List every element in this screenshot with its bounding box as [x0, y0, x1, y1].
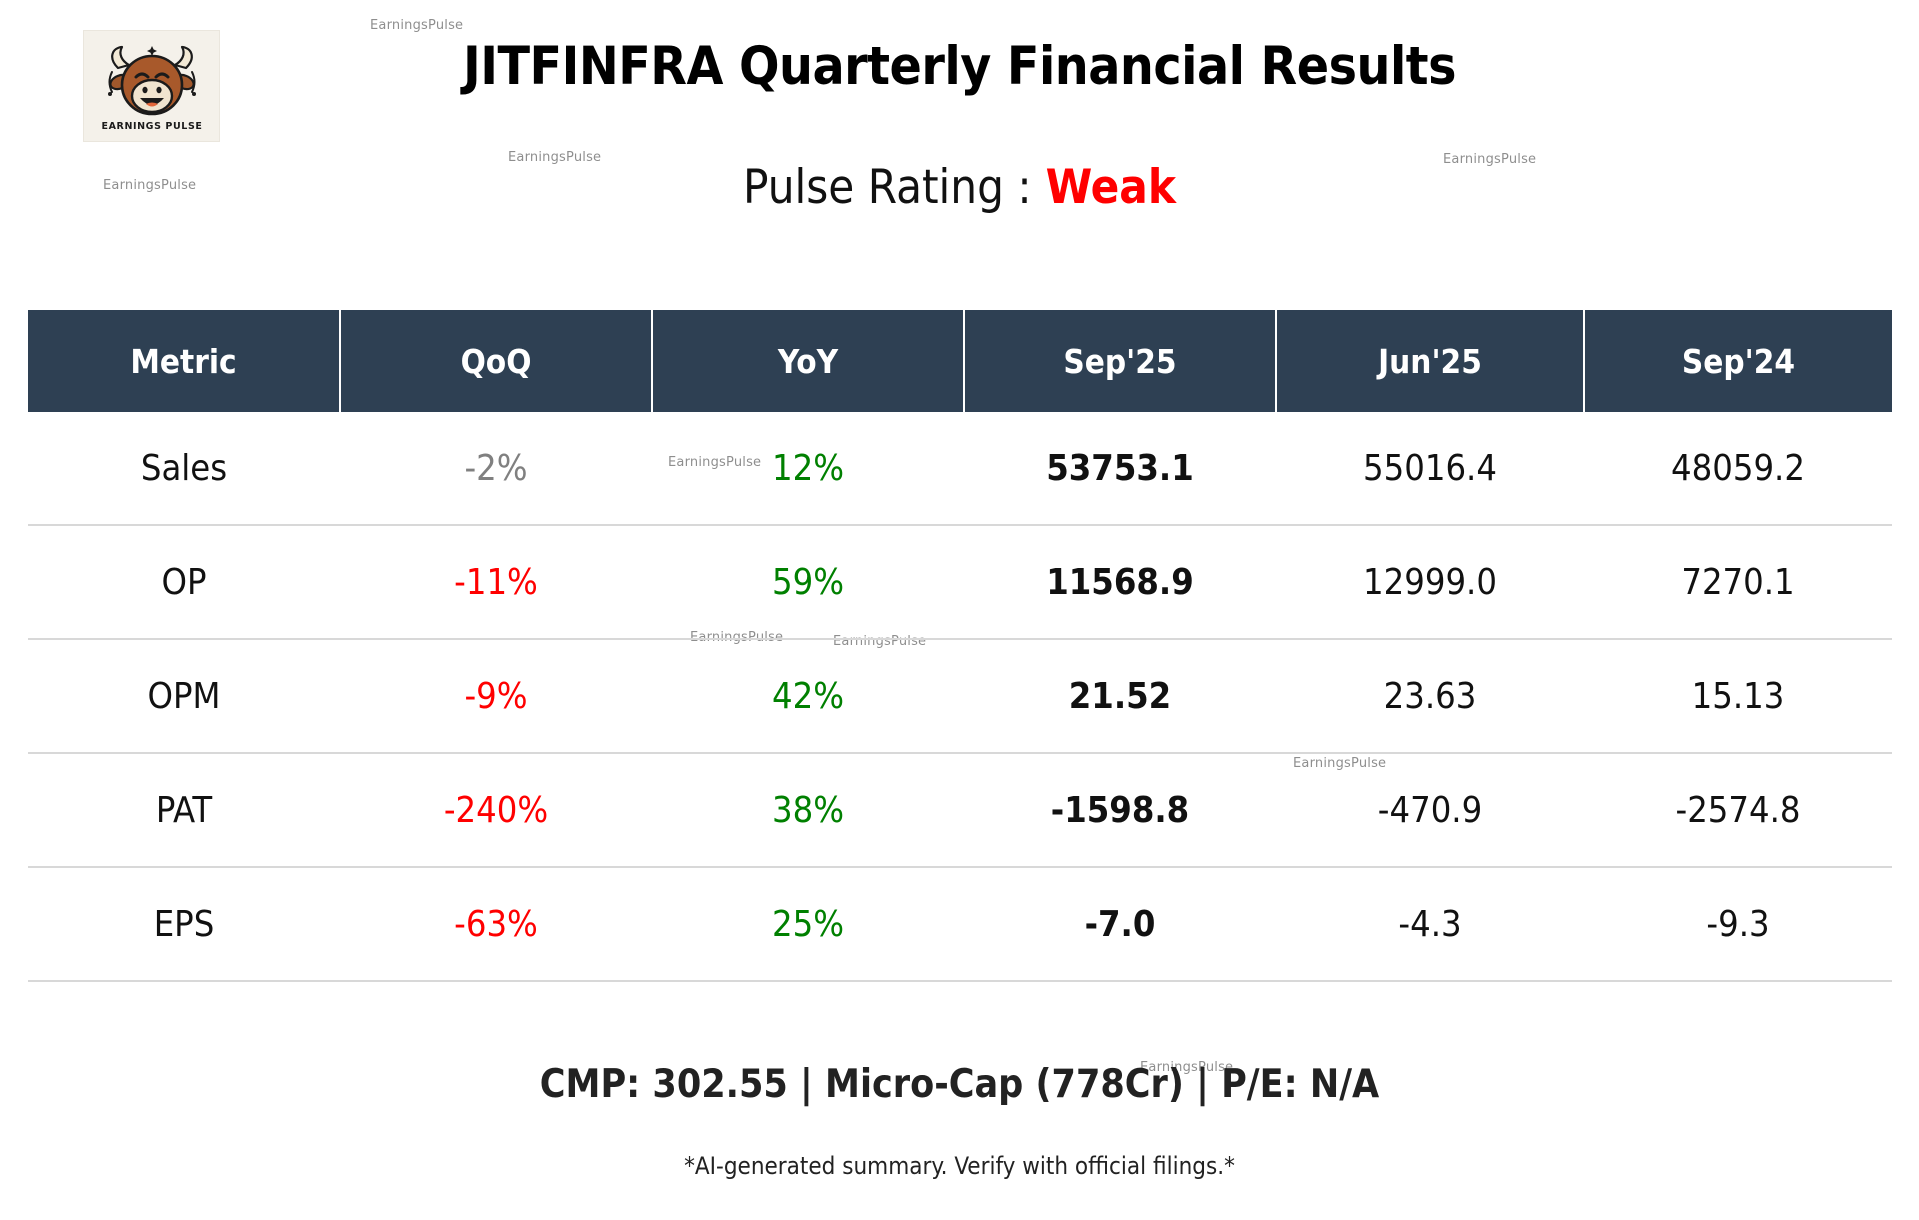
value-year-ago-quarter: 48059.2 — [1584, 412, 1892, 525]
column-header-sep-24: Sep'24 — [1584, 310, 1892, 412]
yoy-change: 59% — [652, 525, 964, 639]
metric-name: Sales — [28, 412, 340, 525]
value-current-quarter: -7.0 — [964, 867, 1276, 981]
infographic-page: EarningsPulseEarningsPulseEarningsPulseE… — [0, 0, 1919, 1220]
value-current-quarter: 53753.1 — [964, 412, 1276, 525]
value-previous-quarter: -4.3 — [1276, 867, 1584, 981]
qoq-change: -2% — [340, 412, 652, 525]
quarterly-results-table: MetricQoQYoYSep'25Jun'25Sep'24 Sales-2%1… — [28, 310, 1892, 982]
value-previous-quarter: 55016.4 — [1276, 412, 1584, 525]
pulse-rating: Pulse Rating :Weak — [0, 160, 1919, 215]
qoq-change: -11% — [340, 525, 652, 639]
cmp-summary-line: CMP: 302.55 | Micro-Cap (778Cr) | P/E: N… — [0, 1062, 1919, 1107]
metric-name: OPM — [28, 639, 340, 753]
yoy-change: 38% — [652, 753, 964, 867]
qoq-change: -63% — [340, 867, 652, 981]
column-header-metric: Metric — [28, 310, 340, 412]
disclaimer-text: *AI-generated summary. Verify with offic… — [0, 1152, 1919, 1180]
table-row: EPS-63%25%-7.0-4.3-9.3 — [28, 867, 1892, 981]
value-year-ago-quarter: -9.3 — [1584, 867, 1892, 981]
column-header-jun-25: Jun'25 — [1276, 310, 1584, 412]
pulse-rating-value: Weak — [1046, 160, 1176, 215]
value-previous-quarter: 23.63 — [1276, 639, 1584, 753]
table-row: PAT-240%38%-1598.8-470.9-2574.8 — [28, 753, 1892, 867]
value-current-quarter: -1598.8 — [964, 753, 1276, 867]
qoq-change: -9% — [340, 639, 652, 753]
page-title: JITFINFRA Quarterly Financial Results — [0, 36, 1919, 97]
table-row: Sales-2%12%53753.155016.448059.2 — [28, 412, 1892, 525]
table-row: OP-11%59%11568.912999.07270.1 — [28, 525, 1892, 639]
value-year-ago-quarter: 7270.1 — [1584, 525, 1892, 639]
metric-name: OP — [28, 525, 340, 639]
svg-text:EARNINGS PULSE: EARNINGS PULSE — [101, 121, 202, 132]
yoy-change: 12% — [652, 412, 964, 525]
column-header-qoq: QoQ — [340, 310, 652, 412]
column-header-sep-25: Sep'25 — [964, 310, 1276, 412]
value-current-quarter: 21.52 — [964, 639, 1276, 753]
metric-name: PAT — [28, 753, 340, 867]
value-year-ago-quarter: 15.13 — [1584, 639, 1892, 753]
column-header-yoy: YoY — [652, 310, 964, 412]
yoy-change: 42% — [652, 639, 964, 753]
watermark-0: EarningsPulse — [370, 18, 463, 33]
table-row: OPM-9%42%21.5223.6315.13 — [28, 639, 1892, 753]
pulse-rating-label: Pulse Rating : — [743, 160, 1032, 215]
value-previous-quarter: -470.9 — [1276, 753, 1584, 867]
qoq-change: -240% — [340, 753, 652, 867]
value-previous-quarter: 12999.0 — [1276, 525, 1584, 639]
table-header-row: MetricQoQYoYSep'25Jun'25Sep'24 — [28, 310, 1892, 412]
value-current-quarter: 11568.9 — [964, 525, 1276, 639]
metric-name: EPS — [28, 867, 340, 981]
yoy-change: 25% — [652, 867, 964, 981]
value-year-ago-quarter: -2574.8 — [1584, 753, 1892, 867]
